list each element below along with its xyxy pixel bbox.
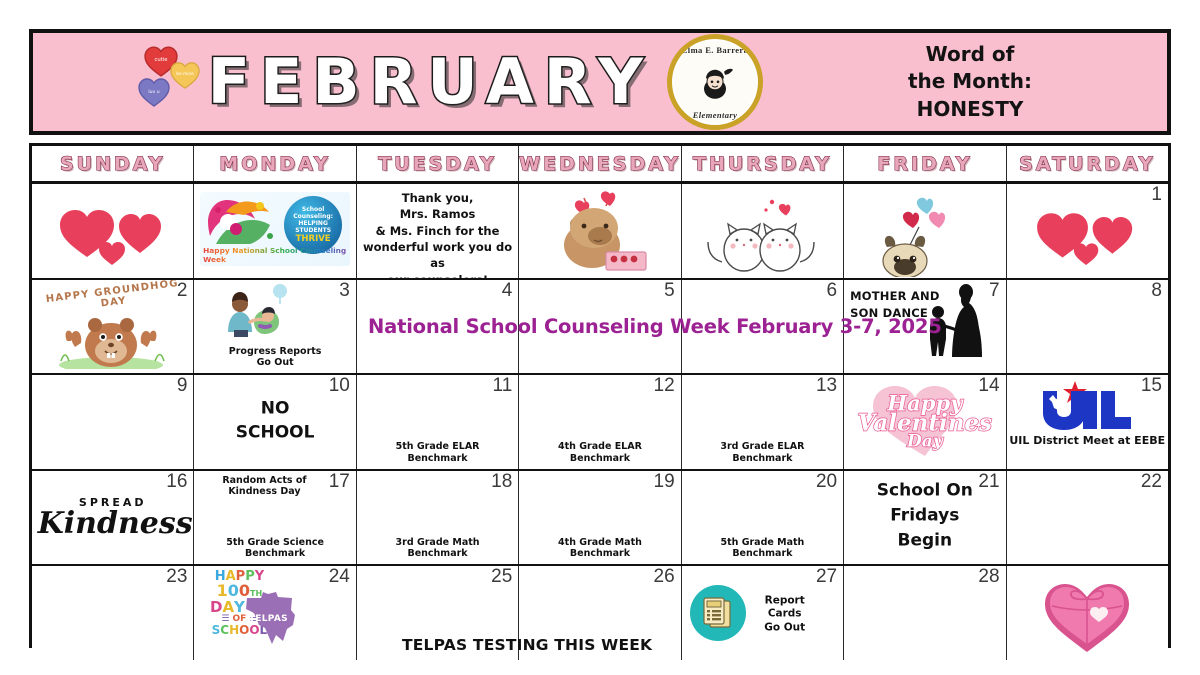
day-of-week-header-row: SUNDAY MONDAY TUESDAY WEDNESDAY THURSDAY… <box>32 146 1168 184</box>
day-cell-7[interactable]: MOTHER AND SON DANCE 7 <box>844 280 1006 374</box>
no-school-note: NO SCHOOL <box>194 396 355 445</box>
page-title: FEBRUARY <box>208 51 653 113</box>
day-cell-3[interactable]: Progress Reports Go Out 3 <box>194 280 356 374</box>
report-card-icon <box>690 585 746 641</box>
day-cell-18[interactable]: 3rd Grade Math Benchmark 18 <box>357 471 519 565</box>
day-number: 23 <box>166 567 187 587</box>
day-cell-counseling-week[interactable]: School Counseling: HELPING STUDENTS THRI… <box>194 184 356 278</box>
day-number: 10 <box>329 376 350 396</box>
day-cell-15[interactable]: UIL District Meet at EEBE 15 <box>1007 375 1168 469</box>
calendar-grid: SUNDAY MONDAY TUESDAY WEDNESDAY THURSDAY… <box>29 143 1171 648</box>
day-cell-1[interactable]: 1 <box>1007 184 1168 278</box>
day-number: 14 <box>978 376 999 396</box>
svg-text:be mine: be mine <box>176 71 194 77</box>
wotm-line-1: Word of <box>908 41 1032 69</box>
day-cell-5[interactable]: 5 <box>519 280 681 374</box>
benchmark-note: 5th Grade Science Benchmark <box>194 537 355 560</box>
day-cell-empty-2[interactable] <box>1007 566 1168 660</box>
day-cell-19[interactable]: 4th Grade Math Benchmark 19 <box>519 471 681 565</box>
kindness-line-2: Kindness <box>38 510 188 539</box>
benchmark-note: 4th Grade Math Benchmark <box>519 537 680 560</box>
day-cell-4[interactable]: 4 <box>357 280 519 374</box>
day-number: 9 <box>177 376 188 396</box>
header-title-area: cutie be mine luv u FEBRUARY Elma E. Bar… <box>33 33 773 131</box>
dow-tuesday: TUESDAY <box>357 146 519 181</box>
day-number: 12 <box>654 376 675 396</box>
day-cell-13[interactable]: 3rd Grade ELAR Benchmark 13 <box>682 375 844 469</box>
telpas-badge-label: TELPAS <box>249 614 288 624</box>
day-cell-21[interactable]: School On Fridays Begin 21 <box>844 471 1006 565</box>
day-number: 21 <box>978 472 999 492</box>
day-cell-12[interactable]: 4th Grade ELAR Benchmark 12 <box>519 375 681 469</box>
day-number: 5 <box>664 281 675 301</box>
dow-monday: MONDAY <box>194 146 356 181</box>
week-row-2: National School Counseling Week February… <box>32 280 1168 376</box>
week-row-3: 9 NO SCHOOL 10 5th Grade ELAR Benchmark … <box>32 375 1168 471</box>
day-cell-6[interactable]: 6 <box>682 280 844 374</box>
benchmark-note: 5th Grade Math Benchmark <box>682 537 843 560</box>
dow-thursday: THURSDAY <box>682 146 844 181</box>
day-number: 3 <box>339 281 350 301</box>
day-number: 11 <box>493 376 513 396</box>
day-cell-22[interactable]: 22 <box>1007 471 1168 565</box>
svg-text:luv u: luv u <box>148 89 159 95</box>
day-number: 8 <box>1151 281 1162 301</box>
thank-you-note: Thank you, Mrs. Ramos & Ms. Finch for th… <box>361 190 514 278</box>
uil-logo-icon <box>1039 379 1135 436</box>
benchmark-note: 4th Grade ELAR Benchmark <box>519 441 680 464</box>
day-cell-capybara[interactable] <box>519 184 681 278</box>
word-of-the-month: Word of the Month: HONESTY <box>908 41 1032 124</box>
school-logo: Elma E. Barrera Elementary <box>667 34 763 130</box>
two-cats-icon <box>682 188 843 276</box>
day-cell-28[interactable]: 28 <box>844 566 1006 660</box>
day-cell-8[interactable]: 8 <box>1007 280 1168 374</box>
school-logo-top-text: Elma E. Barrera <box>672 45 758 55</box>
dow-sunday: SUNDAY <box>32 146 194 181</box>
school-logo-bottom-text: Elementary <box>672 110 758 120</box>
day-cell-cats[interactable] <box>682 184 844 278</box>
benchmark-note: 3rd Grade Math Benchmark <box>357 537 518 560</box>
counseling-week-caption: Happy National School Counseling Week <box>203 246 350 264</box>
day-cell-17[interactable]: Random Acts of Kindness Day 5th Grade Sc… <box>194 471 356 565</box>
progress-reports-note: Progress Reports Go Out <box>194 346 355 369</box>
day-cell-24[interactable]: HAPPY 100TH DAY 🍎 ☰ OF ☰ SCHOOL TELPAS 2… <box>194 566 356 660</box>
hearts-trio-icon <box>32 192 193 270</box>
day-cell-10[interactable]: NO SCHOOL 10 <box>194 375 356 469</box>
benchmark-note: 5th Grade ELAR Benchmark <box>357 441 518 464</box>
day-cell-pug[interactable] <box>844 184 1006 278</box>
wotm-line-3: HONESTY <box>908 96 1032 124</box>
counseling-week-badge: School Counseling: HELPING STUDENTS THRI… <box>194 192 355 266</box>
report-cards-note: Report Cards Go Out <box>752 594 818 635</box>
day-cell-20[interactable]: 5th Grade Math Benchmark 20 <box>682 471 844 565</box>
day-cell-23[interactable]: 23 <box>32 566 194 660</box>
header-banner: cutie be mine luv u FEBRUARY Elma E. Bar… <box>29 29 1171 135</box>
benchmark-note: 3rd Grade ELAR Benchmark <box>682 441 843 464</box>
spread-kindness-icon: SPREAD Kindness <box>38 496 188 539</box>
day-cell-27[interactable]: Report Cards Go Out 27 <box>682 566 844 660</box>
capybara-chocolates-icon <box>519 188 680 276</box>
day-number: 7 <box>989 281 1000 301</box>
calendar-page: cutie be mine luv u FEBRUARY Elma E. Bar… <box>0 0 1200 675</box>
day-number: 16 <box>166 472 187 492</box>
day-number: 6 <box>827 281 838 301</box>
random-acts-kindness-note: Random Acts of Kindness Day <box>204 475 324 498</box>
week-row-5: TELPAS TESTING THIS WEEK 23 HAPPY 100TH … <box>32 566 1168 660</box>
pug-balloons-icon <box>844 186 1005 278</box>
day-cell-thank-you[interactable]: Thank you, Mrs. Ramos & Ms. Finch for th… <box>357 184 519 278</box>
day-number: 25 <box>491 567 512 587</box>
hearts-trio-icon <box>1007 194 1168 272</box>
candy-heart-purple-icon: luv u <box>138 76 170 108</box>
day-cell-16[interactable]: SPREAD Kindness 16 <box>32 471 194 565</box>
day-number: 28 <box>978 567 999 587</box>
school-mascot-icon <box>693 63 737 103</box>
day-cell-14[interactable]: Happy Valentines Day 14 <box>844 375 1006 469</box>
word-of-the-month-area: Word of the Month: HONESTY <box>773 33 1167 131</box>
groundhog-icon <box>40 300 181 374</box>
day-cell-9[interactable]: 9 <box>32 375 194 469</box>
day-number: 1 <box>1151 185 1162 205</box>
day-cell-25[interactable]: 25 <box>357 566 519 660</box>
day-number: 2 <box>177 281 188 301</box>
day-number: 20 <box>816 472 837 492</box>
mother-son-silhouette-icon <box>922 284 984 360</box>
valentines-text: Happy Valentines Day <box>850 393 1000 450</box>
dow-friday: FRIDAY <box>844 146 1006 181</box>
day-number: 26 <box>654 567 675 587</box>
day-number: 17 <box>329 472 350 492</box>
day-number: 13 <box>816 376 837 396</box>
texas-telpas-icon: TELPAS <box>242 588 304 646</box>
counselor-child-icon <box>216 282 306 338</box>
counseling-week-badge-icon: School Counseling: HELPING STUDENTS THRI… <box>200 192 350 266</box>
dow-saturday: SATURDAY <box>1007 146 1168 181</box>
day-number: 27 <box>816 567 837 587</box>
week-row-4: SPREAD Kindness 16 Random Acts of Kindne… <box>32 471 1168 567</box>
day-number: 4 <box>502 281 513 301</box>
day-number: 24 <box>329 567 350 587</box>
day-number: 19 <box>654 472 675 492</box>
day-number: 18 <box>491 472 512 492</box>
day-cell-empty-1[interactable] <box>32 184 194 278</box>
week-row-1: School Counseling: HELPING STUDENTS THRI… <box>32 184 1168 280</box>
heart-gift-box-icon <box>1007 570 1168 656</box>
dow-wednesday: WEDNESDAY <box>519 146 682 181</box>
valentines-line-3: Day <box>850 434 1000 450</box>
day-number: 15 <box>1141 376 1162 396</box>
candy-heart-yellow-icon: be mine <box>170 60 200 90</box>
svg-text:cutie: cutie <box>154 57 167 63</box>
day-cell-26[interactable]: 26 <box>519 566 681 660</box>
wotm-line-2: the Month: <box>908 68 1032 96</box>
candy-hearts-group: cutie be mine luv u <box>126 40 204 120</box>
day-number: 22 <box>1141 472 1162 492</box>
day-cell-11[interactable]: 5th Grade ELAR Benchmark 11 <box>357 375 519 469</box>
day-cell-2[interactable]: HAPPY GROUNDHOG DAY <box>32 280 194 374</box>
